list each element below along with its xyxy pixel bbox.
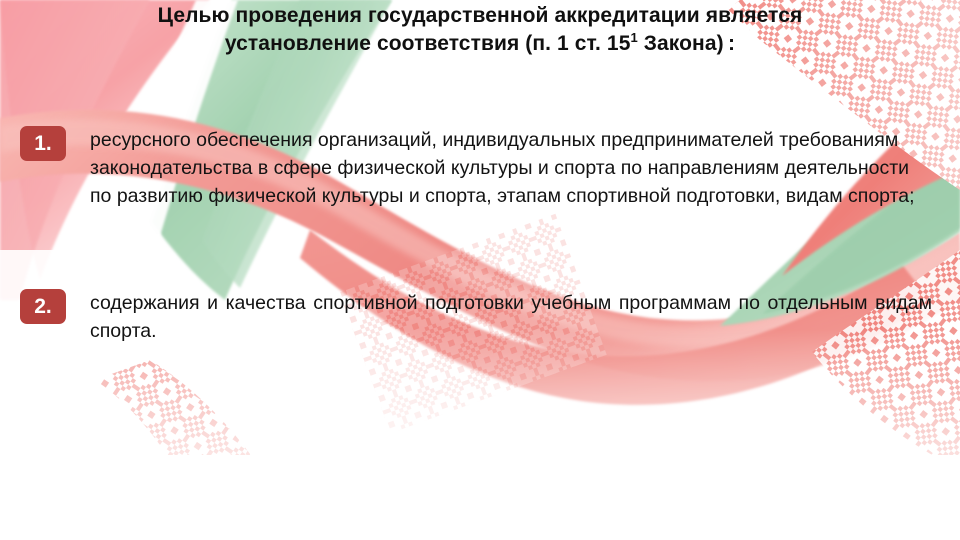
title-line-1: Целью проведения государственной аккреди… (158, 4, 803, 27)
list-item-text: ресурсного обеспечения организаций, инди… (90, 126, 932, 210)
slide-content: Целью проведения государственной аккреди… (0, 0, 960, 540)
presentation-slide: Целью проведения государственной аккреди… (0, 0, 960, 540)
page-title: Целью проведения государственной аккреди… (60, 2, 900, 58)
title-superscript: 1 (630, 30, 637, 45)
list-item-number-badge: 1. (20, 126, 66, 161)
title-line-2-before: установление соответствия (п. 1 ст. 15 (225, 32, 631, 55)
list-item-text: содержания и качества спортивной подгото… (90, 289, 932, 373)
title-line-2-after: Закона) : (638, 32, 735, 55)
list-item-number-badge: 2. (20, 289, 66, 324)
